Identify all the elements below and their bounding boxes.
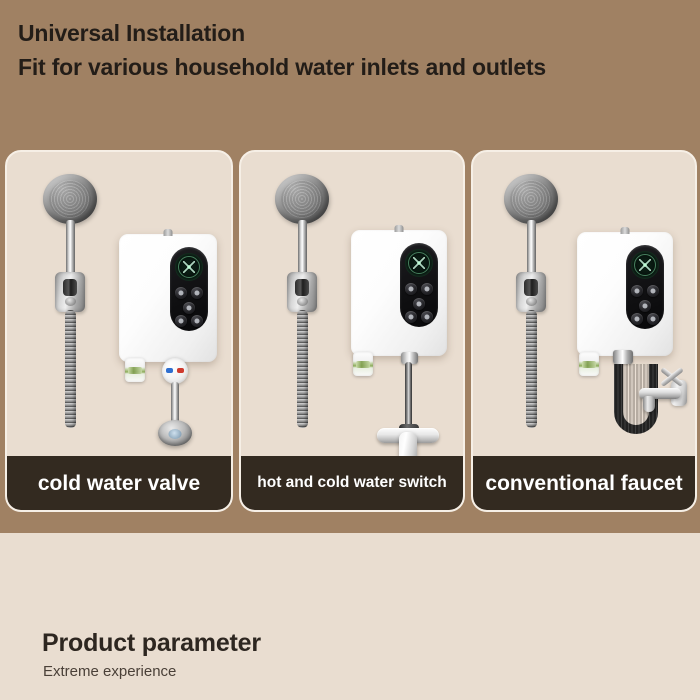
cold-water-valve-icon[interactable] [158,420,192,446]
panel-button-power[interactable] [639,300,651,312]
installation-card-cold-water-valve[interactable]: cold water valve [5,150,233,512]
scene-cold-water-valve [7,152,231,460]
shower-head-icon [275,174,329,224]
green-inlet-filter-icon [579,352,599,376]
heater-cap-icon [164,229,173,236]
hose-nut-icon [613,350,633,364]
product-parameter-section: Product parameter Extreme experience [0,533,700,700]
panel-button-up[interactable] [647,285,659,297]
card-caption-bar: cold water valve [7,456,231,510]
card-caption-label: hot and cold water switch [257,475,446,491]
panel-button-set[interactable] [421,311,433,323]
card-caption-bar: hot and cold water switch [241,456,463,510]
product-parameter-subtitle: Extreme experience [43,663,176,680]
mixer-stem-icon [405,362,412,430]
panel-button-mode[interactable] [631,313,643,325]
heater-cap-icon [395,225,404,232]
panel-button-down[interactable] [405,283,417,295]
faucet-spout-icon [643,396,655,412]
headline-block: Universal Installation Fit for various h… [18,16,688,84]
panel-button-set[interactable] [191,315,203,327]
control-panel-icon [400,243,438,327]
installation-card-row: cold water valve [5,150,695,512]
product-parameter-title: Product parameter [42,629,261,658]
headline-line-1: Universal Installation [18,16,688,50]
wall-bracket-icon [516,272,546,312]
panel-button-up[interactable] [191,287,203,299]
scene-conventional-faucet [473,152,695,460]
panel-button-mode[interactable] [175,315,187,327]
control-panel-icon [626,245,664,329]
wall-bracket-icon [287,272,317,312]
round-mixing-valve-icon [162,358,188,384]
circular-display-icon [405,249,433,277]
scene-hot-cold-switch [241,152,463,460]
panel-button-set[interactable] [647,313,659,325]
water-heater-icon [119,234,217,362]
installation-card-hot-cold-switch[interactable]: hot and cold water switch [239,150,465,512]
shower-head-icon [43,174,97,224]
panel-button-down[interactable] [175,287,187,299]
card-caption-label: conventional faucet [485,473,682,494]
panel-button-mode[interactable] [405,311,417,323]
card-caption-label: cold water valve [38,473,200,494]
control-panel-icon [170,247,208,331]
card-caption-bar: conventional faucet [473,456,695,510]
panel-button-power[interactable] [413,298,425,310]
shower-head-icon [504,174,558,224]
circular-display-icon [631,251,659,279]
green-inlet-filter-icon [353,352,373,376]
faucet-cross-handle-icon[interactable] [659,364,685,390]
green-inlet-filter-icon [125,358,145,382]
heater-cap-icon [621,227,630,234]
corrugated-hose-icon [65,310,76,428]
panel-button-up[interactable] [421,283,433,295]
circular-display-icon [175,253,203,281]
water-heater-icon [351,230,447,356]
product-marketing-page: Universal Installation Fit for various h… [0,0,700,700]
panel-button-down[interactable] [631,285,643,297]
wall-bracket-icon [55,272,85,312]
headline-line-2: Fit for various household water inlets a… [18,50,688,84]
water-heater-icon [577,232,673,356]
panel-button-power[interactable] [183,302,195,314]
installation-card-conventional-faucet[interactable]: conventional faucet [471,150,697,512]
corrugated-hose-icon [297,310,308,428]
corrugated-hose-icon [526,310,537,428]
